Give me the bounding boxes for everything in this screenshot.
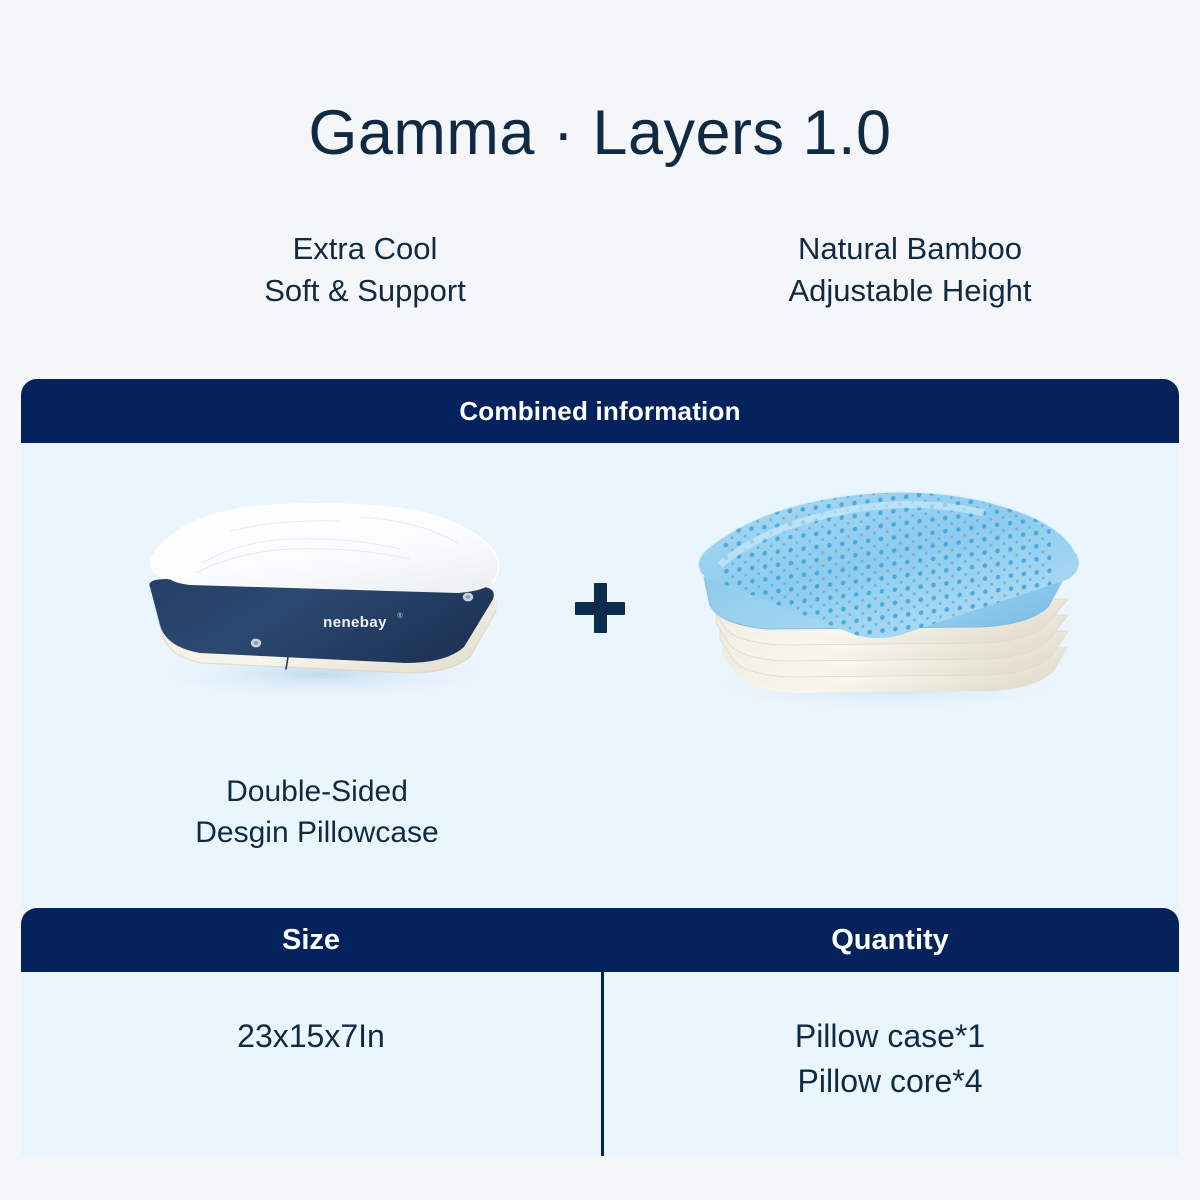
page-title: Gamma · Layers 1.0 — [0, 100, 1200, 166]
feature-block-right: Natural Bamboo Adjustable Height — [675, 228, 1145, 313]
spec-cell-size: 23x15x7In — [21, 972, 601, 1156]
combined-information-panel: Combined information — [21, 379, 1179, 908]
spec-table-column-divider — [601, 972, 604, 1156]
product-infographic: Gamma · Layers 1.0 Extra Cool Soft & Sup… — [0, 0, 1200, 1200]
svg-text:®: ® — [397, 612, 403, 620]
feature-right-line-2: Adjustable Height — [675, 270, 1145, 312]
combined-information-header-label: Combined information — [459, 396, 740, 427]
combined-information-header: Combined information — [21, 379, 1179, 443]
pillowcase-caption: Double-Sided Desgin Pillowcase — [82, 771, 552, 854]
feature-highlights: Extra Cool Soft & Support Natural Bamboo… — [0, 228, 1200, 313]
feature-left-line-1: Extra Cool — [0, 228, 730, 270]
pillowcase-caption-line-2: Desgin Pillowcase — [82, 812, 552, 853]
feature-left-line-2: Soft & Support — [0, 270, 730, 312]
product-slot-pillowcase: nenebay ® — [82, 443, 552, 773]
product-row: nenebay ® — [21, 443, 1179, 773]
spec-size-value: 23x15x7In — [237, 1014, 385, 1059]
spec-column-header-quantity: Quantity — [601, 908, 1179, 972]
spec-table-body: 23x15x7In Pillow case*1 Pillow core*4 — [21, 972, 1179, 1156]
double-sided-pillowcase-image: nenebay ® — [110, 491, 530, 711]
feature-block-left: Extra Cool Soft & Support — [0, 228, 730, 313]
spec-cell-quantity: Pillow case*1 Pillow core*4 — [601, 972, 1179, 1156]
feature-right-line-1: Natural Bamboo — [675, 228, 1145, 270]
spec-table-panel: Size Quantity 23x15x7In Pillow case*1 Pi… — [21, 908, 1179, 1156]
plus-icon — [552, 443, 648, 773]
spec-quantity-line-1: Pillow case*1 — [795, 1014, 985, 1059]
spec-table-header-row: Size Quantity — [21, 908, 1179, 972]
spec-column-header-size: Size — [21, 908, 601, 972]
product-slot-pillow-core — [648, 443, 1118, 773]
plus-icon-vertical-bar — [594, 583, 607, 633]
combined-information-body: nenebay ® — [21, 443, 1179, 908]
svg-text:nenebay: nenebay — [323, 614, 387, 631]
gel-memory-foam-pillow-core-image — [664, 469, 1104, 729]
spec-quantity-line-2: Pillow core*4 — [795, 1059, 985, 1104]
pillowcase-caption-line-1: Double-Sided — [82, 771, 552, 812]
